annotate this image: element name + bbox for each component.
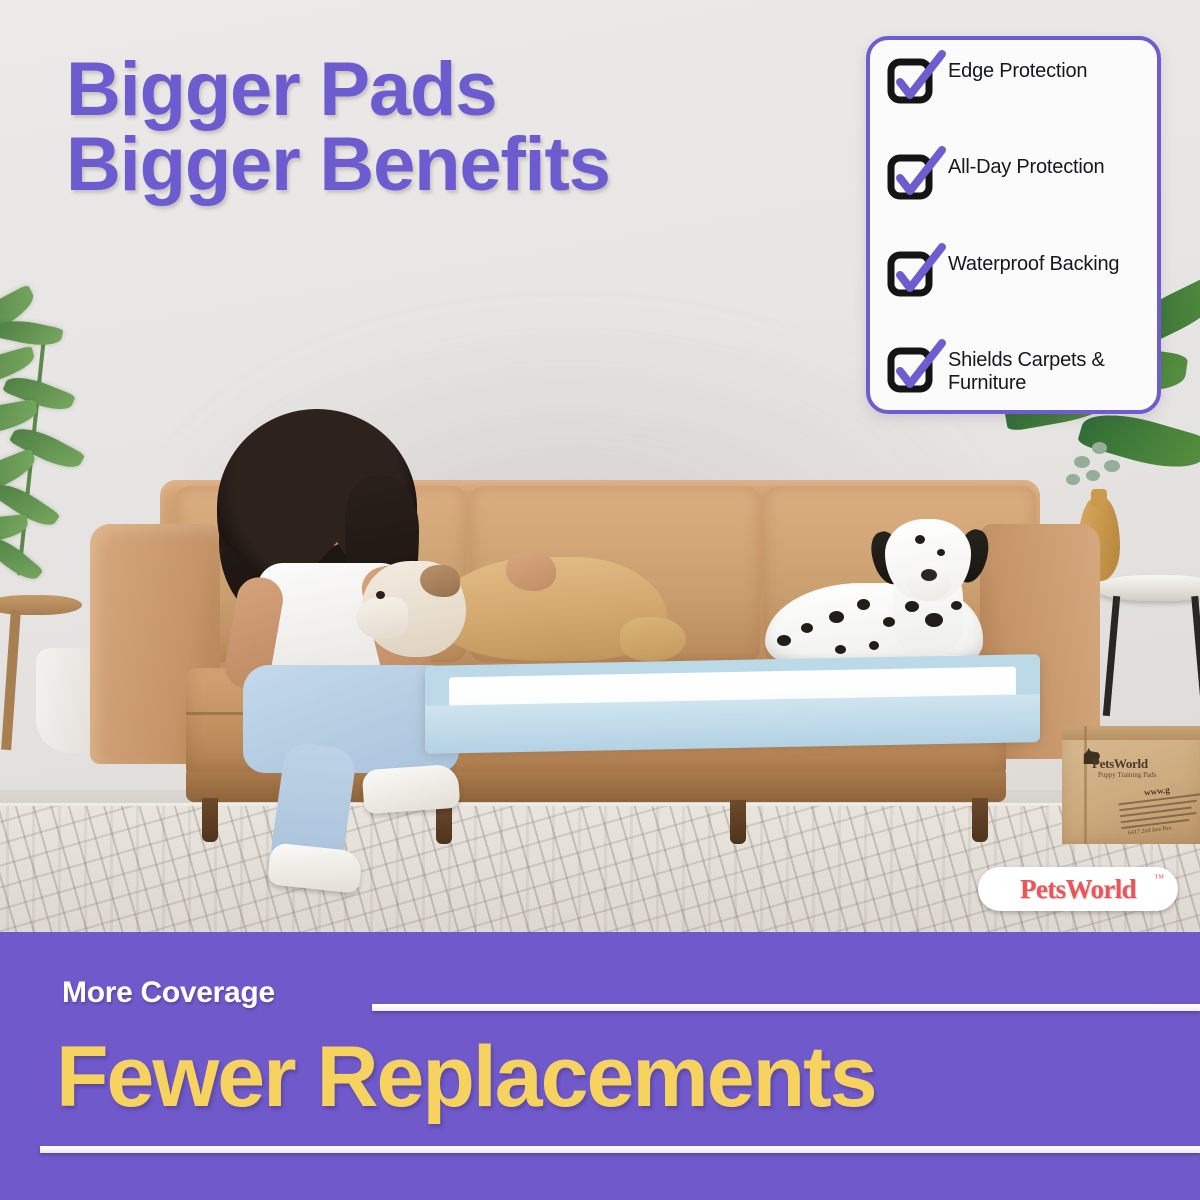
bulldog-snout <box>356 597 408 639</box>
product-box: PetsWorld Puppy Training Pads www.g 6417… <box>1062 726 1200 844</box>
headline-line-2: Bigger Benefits <box>66 127 766 202</box>
banner-divider-top <box>372 1004 1200 1011</box>
feature-item-all-day-protection[interactable]: All-Day Protection <box>888 154 1143 198</box>
dalmatian-nose <box>921 569 937 581</box>
box-subtitle: Puppy Training Pads <box>1098 771 1156 779</box>
marble-side-table <box>1095 575 1200 601</box>
brand-logo: PetsWorld ™ <box>978 867 1178 911</box>
box-seam <box>1084 726 1087 844</box>
checkbox-checked-icon[interactable] <box>888 253 932 295</box>
sofa-leg <box>730 800 746 844</box>
bulldog-eye <box>376 591 385 599</box>
box-flap <box>1062 726 1200 740</box>
feature-label: All-Day Protection <box>948 154 1104 180</box>
feature-label: Edge Protection <box>948 58 1087 84</box>
sneaker <box>362 764 461 815</box>
brand-name: PetsWorld <box>1020 874 1136 905</box>
headline-line-1: Bigger Pads <box>66 52 766 127</box>
feature-card: Edge Protection All-Day Protection <box>866 36 1161 414</box>
bulldog-ear <box>420 565 460 597</box>
ad-canvas: PetsWorld Puppy Training Pads www.g 6417… <box>0 0 1200 1200</box>
feature-item-waterproof-backing[interactable]: Waterproof Backing <box>888 251 1143 295</box>
checkbox-checked-icon[interactable] <box>888 60 932 102</box>
page-title: Bigger Pads Bigger Benefits <box>66 52 766 202</box>
feature-item-edge-protection[interactable]: Edge Protection <box>888 58 1143 102</box>
checkbox-checked-icon[interactable] <box>888 156 932 198</box>
lifestyle-photo: PetsWorld Puppy Training Pads www.g 6417… <box>0 0 1200 932</box>
feature-label: Shields Carpets & Furniture <box>948 347 1143 396</box>
banner-headline: Fewer Replacements <box>56 1028 1196 1127</box>
petting-hand <box>506 551 556 591</box>
banner-eyebrow: More Coverage <box>62 976 275 1010</box>
trademark-symbol: ™ <box>1154 873 1164 884</box>
sofa-leg <box>972 798 988 842</box>
feature-item-shields-carpets-furniture[interactable]: Shields Carpets & Furniture <box>888 347 1143 396</box>
bulldog-leg <box>620 617 686 661</box>
box-brand: PetsWorld <box>1092 756 1148 772</box>
feature-list: Edge Protection All-Day Protection <box>888 58 1143 396</box>
checkbox-checked-icon[interactable] <box>888 349 932 391</box>
banner-divider-bottom <box>40 1146 1200 1153</box>
bottom-banner: More Coverage Fewer Replacements <box>0 932 1200 1200</box>
feature-label: Waterproof Backing <box>948 251 1119 277</box>
